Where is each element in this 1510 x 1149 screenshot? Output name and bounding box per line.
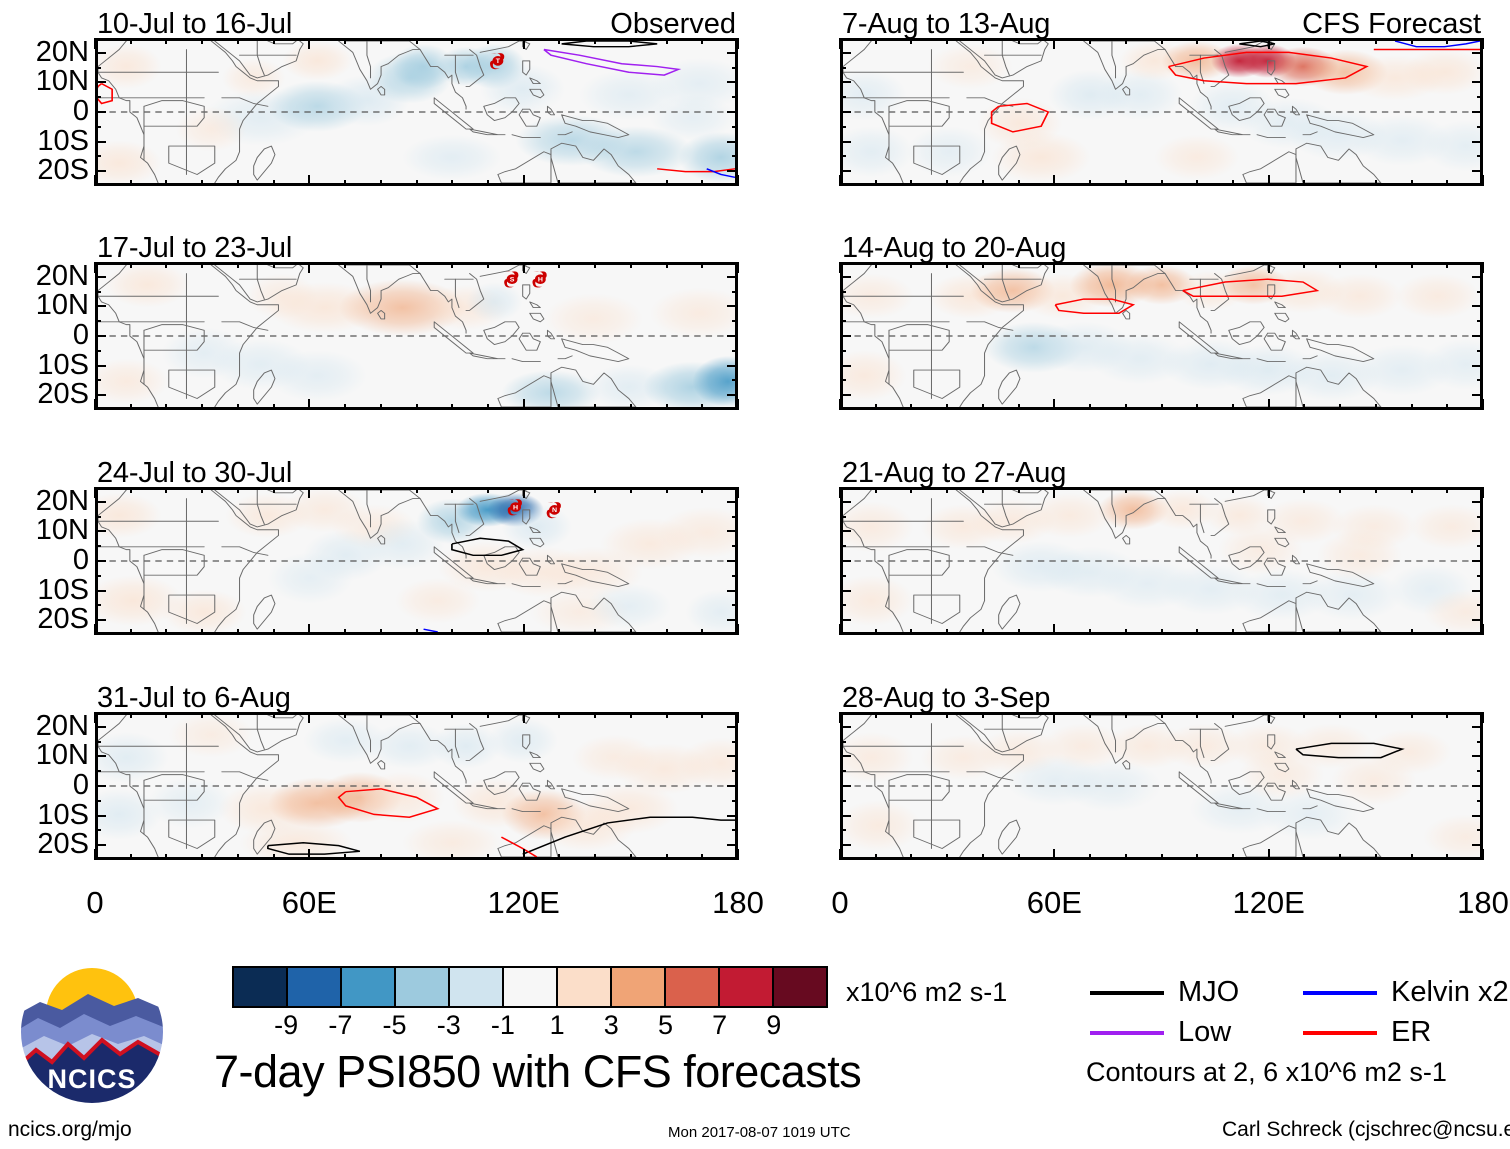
- y-tick-mark: [95, 365, 106, 367]
- x-tick-mark: [737, 175, 739, 186]
- y-tick-mark: [1472, 785, 1483, 787]
- x-tick-mark: [701, 38, 703, 44]
- x-tick-mark: [1303, 38, 1305, 44]
- y-tick-mark: [840, 785, 851, 787]
- x-tick-mark: [451, 629, 453, 635]
- y-tick-mark: [727, 530, 738, 532]
- x-tick-mark: [380, 629, 382, 635]
- y-tick-mark: [1472, 141, 1483, 143]
- y-tick-mark: [732, 96, 738, 98]
- x-tick-mark: [1018, 487, 1020, 493]
- x-tick-label: 180: [712, 885, 764, 921]
- y-tick-mark: [732, 291, 738, 293]
- y-tick-mark: [840, 111, 851, 113]
- x-tick-mark: [1482, 399, 1484, 410]
- map-svg: SH: [98, 265, 735, 407]
- x-tick-mark: [130, 180, 132, 186]
- storm-label: H: [538, 277, 543, 284]
- x-tick-mark: [558, 262, 560, 268]
- x-tick-mark: [1482, 262, 1484, 273]
- x-tick-mark: [1303, 487, 1305, 493]
- x-tick-mark: [839, 712, 841, 723]
- colorbar-tick-label: -1: [491, 1010, 515, 1041]
- x-tick-mark: [982, 404, 984, 410]
- anomaly-blob: [1239, 749, 1324, 800]
- x-tick-mark: [839, 38, 841, 49]
- y-tick-mark: [1472, 335, 1483, 337]
- x-tick-mark: [594, 854, 596, 860]
- anomaly-blob: [402, 135, 501, 180]
- x-tick-mark: [594, 404, 596, 410]
- x-tick-mark: [1018, 38, 1020, 44]
- x-tick-mark: [839, 399, 841, 410]
- x-tick-mark: [201, 404, 203, 410]
- x-tick-mark: [308, 175, 310, 186]
- x-tick-mark: [1375, 487, 1377, 493]
- x-tick-mark: [1375, 712, 1377, 718]
- x-tick-mark: [1268, 712, 1270, 723]
- x-tick-mark: [1446, 629, 1448, 635]
- x-tick-mark: [910, 404, 912, 410]
- map-area: [840, 38, 1483, 186]
- anomaly-blob: [893, 316, 978, 367]
- legend-swatch-kelvin: [1303, 991, 1377, 995]
- x-tick-mark: [875, 629, 877, 635]
- colorbar-tick-label: 9: [766, 1010, 781, 1041]
- x-tick-mark: [1232, 180, 1234, 186]
- y-tick-mark: [1477, 545, 1483, 547]
- x-tick-mark: [130, 38, 132, 44]
- x-tick-mark: [910, 38, 912, 44]
- y-tick-mark: [1477, 320, 1483, 322]
- x-tick-mark: [487, 487, 489, 493]
- y-tick-mark: [732, 379, 738, 381]
- legend-swatch-mjo: [1090, 991, 1164, 995]
- y-tick-mark: [727, 276, 738, 278]
- x-tick-mark: [1125, 262, 1127, 268]
- y-tick-mark: [95, 785, 106, 787]
- x-tick-mark: [165, 854, 167, 860]
- x-tick-mark: [1196, 712, 1198, 718]
- y-tick-mark: [95, 604, 101, 606]
- x-tick-mark: [875, 487, 877, 493]
- x-tick-mark: [1053, 262, 1055, 273]
- x-tick-mark: [416, 487, 418, 493]
- x-tick-mark: [558, 854, 560, 860]
- x-tick-mark: [1339, 629, 1341, 635]
- x-tick-mark: [737, 38, 739, 49]
- x-tick-mark: [1482, 175, 1484, 186]
- x-tick-mark: [946, 404, 948, 410]
- panel-corner-label: Observed: [610, 8, 736, 41]
- y-tick-mark: [1477, 800, 1483, 802]
- x-tick-mark: [666, 38, 668, 44]
- x-tick-mark: [1089, 262, 1091, 268]
- panel-title: 14-Aug to 20-Aug: [842, 232, 1066, 265]
- y-tick-mark: [95, 590, 106, 592]
- colorbar: [232, 966, 828, 1008]
- y-tick-mark: [840, 560, 851, 562]
- anomaly-blob: [1317, 274, 1402, 319]
- x-tick-mark: [1089, 38, 1091, 44]
- x-tick-mark: [1161, 180, 1163, 186]
- x-tick-mark: [1125, 404, 1127, 410]
- y-tick-mark: [95, 111, 106, 113]
- colorbar-units-label: x10^6 m2 s-1: [846, 977, 1007, 1008]
- x-tick-mark: [1089, 487, 1091, 493]
- x-tick-mark: [946, 854, 948, 860]
- legend-label-low: Low: [1178, 1016, 1231, 1049]
- x-tick-mark: [737, 624, 739, 635]
- panel-corner-label: CFS Forecast: [1302, 8, 1481, 41]
- x-tick-mark: [630, 487, 632, 493]
- y-tick-mark: [840, 755, 851, 757]
- y-tick-mark: [1477, 126, 1483, 128]
- ncics-logo-icon: NCICS: [18, 958, 166, 1106]
- x-tick-mark: [380, 38, 382, 44]
- x-tick-mark: [1303, 712, 1305, 718]
- anomaly-blob: [650, 95, 735, 140]
- y-tick-mark: [840, 52, 851, 54]
- x-tick-mark: [237, 854, 239, 860]
- x-tick-mark: [1446, 262, 1448, 268]
- x-tick-mark: [201, 487, 203, 493]
- x-tick-mark: [1125, 629, 1127, 635]
- y-tick-mark: [95, 291, 101, 293]
- y-tick-label: 10N: [36, 516, 89, 545]
- y-tick-mark: [727, 141, 738, 143]
- x-tick-mark: [1232, 487, 1234, 493]
- x-tick-mark: [594, 38, 596, 44]
- y-tick-mark: [1477, 575, 1483, 577]
- x-tick-mark: [94, 262, 96, 273]
- colorbar-segment: [556, 968, 610, 1006]
- y-tick-mark: [840, 590, 851, 592]
- y-tick-mark: [95, 815, 106, 817]
- x-tick-mark: [839, 262, 841, 273]
- x-tick-mark: [308, 262, 310, 273]
- x-tick-mark: [1482, 487, 1484, 498]
- x-tick-mark: [946, 262, 948, 268]
- x-tick-mark: [201, 854, 203, 860]
- x-tick-mark: [1018, 629, 1020, 635]
- anomaly-blob: [586, 584, 671, 629]
- panel-p2: 17-Jul to 23-Jul20N10N010S20SSH: [95, 262, 738, 410]
- y-tick-mark: [732, 604, 738, 606]
- y-tick-mark: [95, 155, 101, 157]
- x-tick-mark: [1232, 712, 1234, 718]
- figure-root: 10-Jul to 16-JulObserved20N10N010S20ST17…: [0, 0, 1510, 1149]
- x-tick-mark: [1446, 854, 1448, 860]
- anomaly-blob: [1395, 274, 1480, 319]
- x-tick-mark: [1268, 624, 1270, 635]
- legend-item-mjo: MJO: [1090, 976, 1239, 1009]
- y-tick-mark: [95, 530, 106, 532]
- x-tick-mark: [273, 629, 275, 635]
- y-tick-mark: [95, 516, 101, 518]
- x-tick-mark: [666, 404, 668, 410]
- x-tick-mark: [1482, 624, 1484, 635]
- x-tick-mark: [1375, 262, 1377, 268]
- y-tick-mark: [1477, 770, 1483, 772]
- x-tick-mark: [839, 487, 841, 498]
- x-tick-mark: [1339, 180, 1341, 186]
- x-tick-mark: [1018, 712, 1020, 718]
- x-tick-mark: [839, 175, 841, 186]
- colorbar-tick-label: -9: [274, 1010, 298, 1041]
- x-tick-mark: [630, 404, 632, 410]
- x-tick-mark: [130, 404, 132, 410]
- y-tick-mark: [95, 844, 106, 846]
- x-tick-mark: [1161, 712, 1163, 718]
- x-tick-mark: [308, 712, 310, 723]
- x-tick-mark: [237, 487, 239, 493]
- y-tick-mark: [1477, 67, 1483, 69]
- x-tick-mark: [1268, 849, 1270, 860]
- map-area: [840, 262, 1483, 410]
- contour-note: Contours at 2, 6 x10^6 m2 s-1: [1086, 1057, 1447, 1088]
- x-tick-mark: [982, 180, 984, 186]
- x-tick-mark: [737, 262, 739, 273]
- anomaly-blob: [268, 552, 353, 603]
- y-tick-mark: [840, 350, 846, 352]
- panel-p7: 21-Aug to 27-Aug: [840, 487, 1483, 635]
- y-tick-label: 20N: [36, 262, 89, 291]
- x-tick-mark: [875, 38, 877, 44]
- x-tick-mark: [344, 38, 346, 44]
- panel-p3: 24-Jul to 30-Jul20N10N010S20SHN: [95, 487, 738, 635]
- colorbar-segment: [718, 968, 772, 1006]
- x-tick-mark: [380, 854, 382, 860]
- anomaly-blob: [572, 735, 657, 780]
- x-tick-mark: [839, 624, 841, 635]
- x-tick-mark: [1161, 262, 1163, 268]
- x-tick-mark: [630, 629, 632, 635]
- x-tick-mark: [875, 180, 877, 186]
- x-tick-mark: [130, 712, 132, 718]
- x-tick-mark: [1196, 38, 1198, 44]
- x-tick-mark: [982, 38, 984, 44]
- x-tick-mark: [1339, 38, 1341, 44]
- y-tick-label: 10N: [36, 67, 89, 96]
- x-tick-mark: [380, 487, 382, 493]
- y-tick-label: 0: [73, 321, 89, 350]
- x-tick-mark: [1303, 629, 1305, 635]
- map-area: HN: [95, 487, 738, 635]
- y-tick-mark: [95, 829, 101, 831]
- x-tick-mark: [875, 712, 877, 718]
- x-tick-mark: [1375, 404, 1377, 410]
- x-tick-mark: [982, 854, 984, 860]
- y-tick-mark: [840, 530, 851, 532]
- x-tick-mark: [237, 404, 239, 410]
- y-tick-mark: [840, 815, 851, 817]
- x-tick-mark: [1411, 180, 1413, 186]
- y-tick-mark: [840, 276, 851, 278]
- x-tick-mark: [1303, 180, 1305, 186]
- colorbar-tick-label: 3: [604, 1010, 619, 1041]
- x-tick-mark: [523, 849, 525, 860]
- x-tick-mark: [1375, 854, 1377, 860]
- colorbar-segment: [664, 968, 718, 1006]
- map-area: [95, 712, 738, 860]
- x-tick-mark: [1411, 38, 1413, 44]
- anomaly-blob: [1331, 755, 1416, 806]
- y-tick-mark: [95, 619, 106, 621]
- y-tick-mark: [840, 320, 846, 322]
- x-tick-mark: [451, 262, 453, 268]
- x-tick-mark: [982, 712, 984, 718]
- legend-item-low: Low: [1090, 1016, 1231, 1049]
- colorbar-tick-label: 5: [658, 1010, 673, 1041]
- x-tick-mark: [1482, 38, 1484, 49]
- panel-title: 10-Jul to 16-Jul: [97, 8, 292, 41]
- y-tick-mark: [727, 170, 738, 172]
- x-tick-mark: [1089, 404, 1091, 410]
- storm-label: N: [552, 507, 557, 514]
- x-tick-mark: [1053, 399, 1055, 410]
- x-tick-mark: [701, 262, 703, 268]
- x-tick-mark: [237, 38, 239, 44]
- panel-title: 28-Aug to 3-Sep: [842, 682, 1050, 715]
- y-tick-mark: [727, 590, 738, 592]
- y-tick-label: 20S: [37, 830, 89, 859]
- map-svg: [98, 715, 735, 857]
- x-tick-mark: [737, 712, 739, 723]
- y-tick-mark: [1477, 516, 1483, 518]
- y-tick-mark: [1472, 501, 1483, 503]
- panel-title: 31-Jul to 6-Aug: [97, 682, 291, 715]
- footer-author: Carl Schreck (cjschrec@ncsu.edu): [1222, 1118, 1510, 1142]
- x-tick-mark: [1411, 712, 1413, 718]
- y-tick-mark: [95, 126, 101, 128]
- anomaly-blob: [544, 293, 643, 344]
- legend-item-er: ER: [1303, 1016, 1431, 1049]
- x-tick-mark: [666, 854, 668, 860]
- x-tick-mark: [201, 180, 203, 186]
- x-tick-mark: [1053, 712, 1055, 723]
- y-tick-mark: [840, 844, 851, 846]
- x-tick-mark: [1268, 262, 1270, 273]
- x-tick-mark: [1196, 262, 1198, 268]
- y-tick-mark: [840, 619, 851, 621]
- x-tick-mark: [1161, 404, 1163, 410]
- y-axis: 20N10N010S20S: [3, 24, 89, 200]
- x-tick-mark: [630, 180, 632, 186]
- y-tick-mark: [840, 291, 846, 293]
- anomaly-blob: [268, 350, 367, 401]
- y-axis: 20N10N010S20S: [3, 473, 89, 649]
- y-tick-mark: [1477, 350, 1483, 352]
- x-tick-mark: [165, 262, 167, 268]
- anomaly-blob: [282, 41, 353, 81]
- x-tick-mark: [839, 849, 841, 860]
- x-tick-mark: [910, 262, 912, 268]
- x-tick-mark: [487, 38, 489, 44]
- x-tick-mark: [130, 262, 132, 268]
- map-area: [840, 487, 1483, 635]
- y-tick-mark: [1472, 170, 1483, 172]
- x-tick-mark: [523, 399, 525, 410]
- x-tick-mark: [1161, 629, 1163, 635]
- x-tick-mark: [380, 180, 382, 186]
- x-tick-mark: [1303, 854, 1305, 860]
- y-tick-mark: [95, 305, 106, 307]
- y-tick-mark: [732, 545, 738, 547]
- panel-p5: 7-Aug to 13-AugCFS Forecast: [840, 38, 1483, 186]
- colorbar-tick-label: -5: [383, 1010, 407, 1041]
- x-tick-mark: [416, 854, 418, 860]
- x-tick-mark: [1196, 180, 1198, 186]
- x-tick-mark: [946, 712, 948, 718]
- y-tick-mark: [840, 155, 846, 157]
- x-tick-mark: [451, 180, 453, 186]
- x-tick-label: 0: [831, 885, 848, 921]
- x-tick-mark: [946, 487, 948, 493]
- footer-timestamp: Mon 2017-08-07 1019 UTC: [668, 1124, 851, 1141]
- y-tick-mark: [1477, 829, 1483, 831]
- legend-label-er: ER: [1391, 1016, 1431, 1049]
- x-tick-mark: [523, 175, 525, 186]
- x-tick-mark: [558, 38, 560, 44]
- x-tick-mark: [1089, 854, 1091, 860]
- y-tick-mark: [1472, 81, 1483, 83]
- y-tick-mark: [95, 800, 101, 802]
- y-tick-mark: [840, 96, 846, 98]
- legend-swatch-low: [1090, 1031, 1164, 1035]
- y-tick-mark: [95, 501, 106, 503]
- x-tick-mark: [1053, 487, 1055, 498]
- x-tick-mark: [1125, 854, 1127, 860]
- x-tick-label: 60E: [282, 885, 337, 921]
- x-tick-mark: [558, 712, 560, 718]
- y-tick-mark: [95, 394, 106, 396]
- x-tick-mark: [558, 487, 560, 493]
- x-tick-mark: [451, 712, 453, 718]
- x-tick-mark: [1089, 629, 1091, 635]
- x-tick-mark: [1303, 404, 1305, 410]
- y-tick-label: 10N: [36, 741, 89, 770]
- x-tick-mark: [982, 262, 984, 268]
- x-tick-mark: [487, 262, 489, 268]
- y-tick-mark: [95, 726, 106, 728]
- x-tick-label: 180: [1457, 885, 1509, 921]
- y-tick-mark: [840, 81, 851, 83]
- y-tick-mark: [840, 501, 851, 503]
- x-tick-mark: [558, 180, 560, 186]
- y-tick-mark: [1472, 815, 1483, 817]
- x-tick-mark: [982, 487, 984, 493]
- y-tick-label: 10N: [36, 291, 89, 320]
- x-tick-mark: [737, 849, 739, 860]
- map-svg: [843, 715, 1480, 857]
- x-tick-mark: [701, 404, 703, 410]
- x-tick-mark: [1232, 38, 1234, 44]
- x-tick-mark: [594, 180, 596, 186]
- x-tick-mark: [875, 854, 877, 860]
- y-tick-mark: [95, 770, 101, 772]
- x-tick-mark: [237, 629, 239, 635]
- y-tick-mark: [727, 726, 738, 728]
- x-tick-mark: [165, 38, 167, 44]
- panel-p6: 14-Aug to 20-Aug: [840, 262, 1483, 410]
- x-tick-mark: [1161, 854, 1163, 860]
- y-tick-mark: [727, 335, 738, 337]
- y-tick-mark: [840, 170, 851, 172]
- x-tick-mark: [308, 624, 310, 635]
- y-tick-mark: [840, 829, 846, 831]
- footer-url[interactable]: ncics.org/mjo: [8, 1118, 132, 1142]
